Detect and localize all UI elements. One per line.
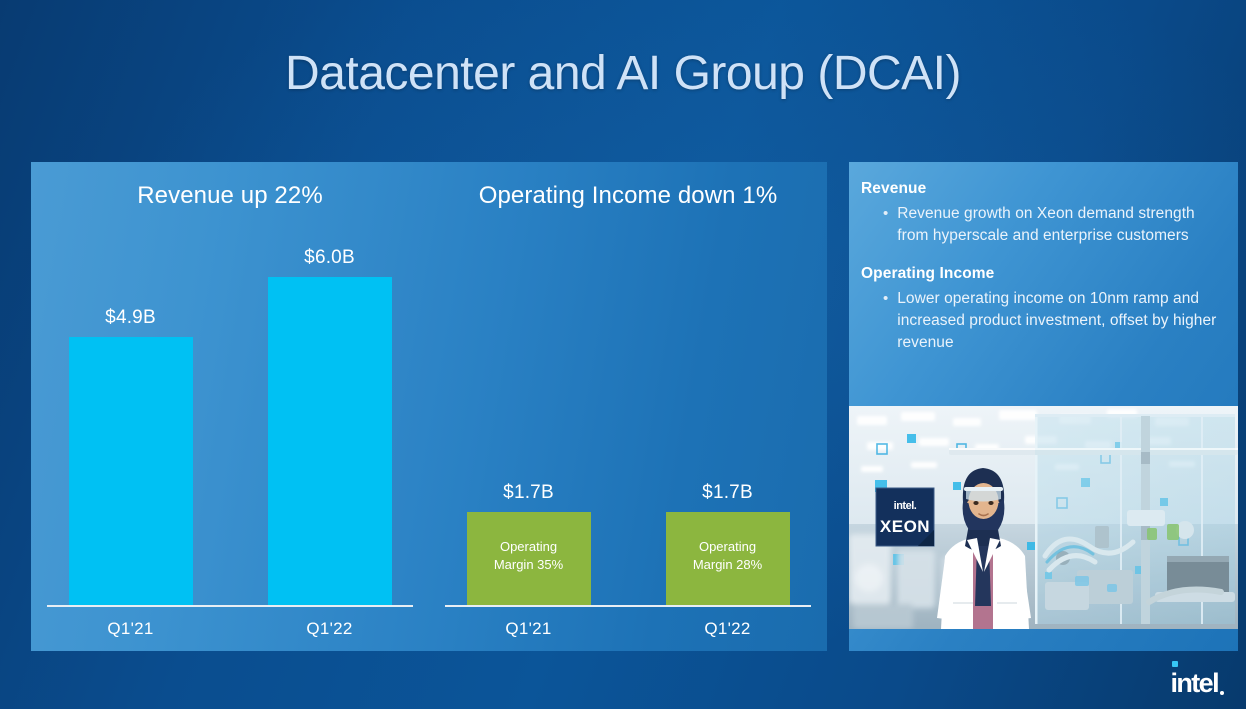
operating-margin-line2-q122: Margin 28% xyxy=(666,556,790,574)
page-title: Datacenter and AI Group (DCAI) xyxy=(0,46,1246,101)
commentary-bullet-text-operating-income: Lower operating income on 10nm ramp and … xyxy=(897,288,1222,354)
svg-text:intel.: intel. xyxy=(894,500,917,512)
intel-logo: intel xyxy=(1170,670,1224,697)
revenue-bar-q121[interactable] xyxy=(69,337,193,605)
commentary-heading-operating-income: Operating Income xyxy=(861,265,1222,283)
revenue-bar-q122[interactable] xyxy=(268,277,392,605)
operating-income-bar-value-q121: $1.7B xyxy=(503,482,554,504)
operating-income-tick-q121: Q1'21 xyxy=(505,619,551,638)
intel-logo-text: intel xyxy=(1170,670,1218,697)
operating-income-bar-q122[interactable]: Operating Margin 28% xyxy=(666,512,790,605)
operating-income-axis-line xyxy=(445,605,811,607)
operating-margin-label-q121: Operating Margin 35% xyxy=(467,538,591,573)
commentary-bullet-revenue: • Revenue growth on Xeon demand strength… xyxy=(861,203,1222,247)
operating-income-chart-heading: Operating Income down 1% xyxy=(429,182,827,210)
commentary-heading-revenue: Revenue xyxy=(861,180,1222,198)
revenue-axis-line xyxy=(47,605,413,607)
operating-income-bar-group: $1.7B Operating Margin 35% $1.7B O xyxy=(429,222,827,605)
charts-panel: Revenue up 22% $4.9B $6.0B Q1'21 Q1'22 xyxy=(31,162,827,651)
operating-margin-line1-q122: Operating xyxy=(666,538,790,556)
operating-income-bar-value-q122: $1.7B xyxy=(702,482,753,504)
operating-income-bar-q121[interactable]: Operating Margin 35% xyxy=(467,512,591,605)
bullet-dot-icon: • xyxy=(883,203,888,247)
revenue-bar-group: $4.9B $6.0B xyxy=(31,222,429,605)
operating-income-bar-slot-q122: $1.7B Operating Margin 28% xyxy=(648,222,807,605)
xeon-badge: intel. XEON xyxy=(876,488,934,546)
operating-income-plot-area: $1.7B Operating Margin 35% $1.7B O xyxy=(429,222,827,651)
bullet-dot-icon: • xyxy=(883,288,888,354)
commentary-panel: Revenue • Revenue growth on Xeon demand … xyxy=(849,162,1238,651)
revenue-bar-value-q122: $6.0B xyxy=(304,247,355,269)
intel-logo-period-icon xyxy=(1220,691,1224,695)
commentary-body: Revenue • Revenue growth on Xeon demand … xyxy=(849,162,1238,354)
commentary-bullet-text-revenue: Revenue growth on Xeon demand strength f… xyxy=(897,203,1222,247)
revenue-bar-slot-q122: $6.0B xyxy=(250,222,409,605)
operating-income-bar-slot-q121: $1.7B Operating Margin 35% xyxy=(449,222,608,605)
revenue-plot-area: $4.9B $6.0B Q1'21 Q1'22 xyxy=(31,222,429,651)
revenue-tick-row: Q1'21 Q1'22 xyxy=(31,619,429,639)
slide-canvas: Datacenter and AI Group (DCAI) Revenue u… xyxy=(0,0,1246,709)
revenue-chart: Revenue up 22% $4.9B $6.0B Q1'21 Q1'22 xyxy=(31,162,429,651)
operating-income-tick-row: Q1'21 Q1'22 xyxy=(429,619,827,639)
svg-text:XEON: XEON xyxy=(880,517,930,536)
commentary-section-operating-income: Operating Income • Lower operating incom… xyxy=(861,265,1222,354)
operating-income-chart: Operating Income down 1% $1.7B Operating… xyxy=(429,162,827,651)
operating-income-tick-q122: Q1'22 xyxy=(704,619,750,638)
commentary-section-revenue: Revenue • Revenue growth on Xeon demand … xyxy=(861,180,1222,247)
operating-margin-line1-q121: Operating xyxy=(467,538,591,556)
lab-photo-illustration: intel. XEON xyxy=(849,406,1238,629)
commentary-bullet-operating-income: • Lower operating income on 10nm ramp an… xyxy=(861,288,1222,354)
revenue-bar-value-q121: $4.9B xyxy=(105,307,156,329)
revenue-bar-slot-q121: $4.9B xyxy=(51,222,210,605)
revenue-tick-q121: Q1'21 xyxy=(107,619,153,638)
operating-margin-line2-q121: Margin 35% xyxy=(467,556,591,574)
operating-margin-label-q122: Operating Margin 28% xyxy=(666,538,790,573)
revenue-tick-q122: Q1'22 xyxy=(306,619,352,638)
intel-logo-dot-icon xyxy=(1172,661,1178,667)
lab-photo: intel. XEON xyxy=(849,406,1238,629)
revenue-chart-heading: Revenue up 22% xyxy=(31,182,429,210)
